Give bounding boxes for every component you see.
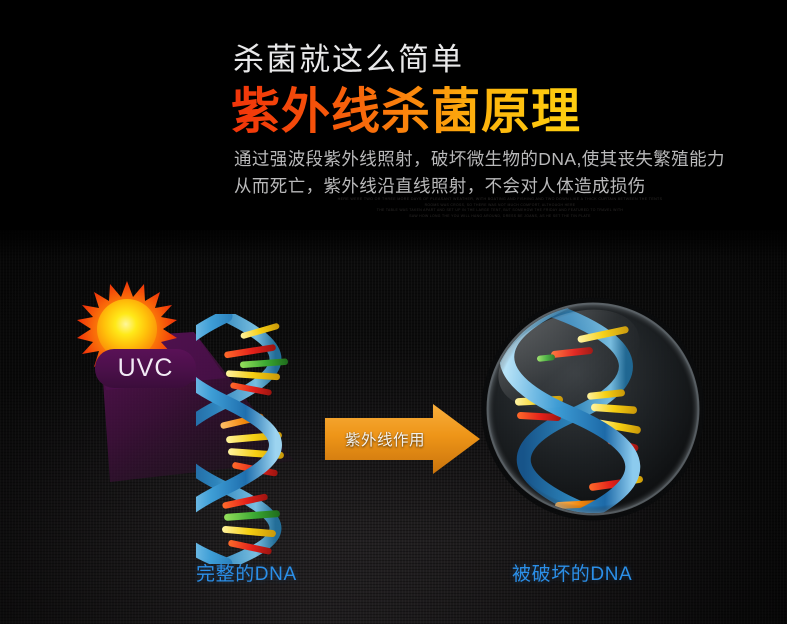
- subtitle-line-2: 从而死亡，紫外线沿直线照射，不会对人体造成损伤: [234, 173, 774, 200]
- dna-intact-illustration: [196, 314, 326, 564]
- subtitle-block: 通过强波段紫外线照射，破坏微生物的DNA,使其丧失繁殖能力 从而死亡，紫外线沿直…: [234, 146, 774, 200]
- caption-intact-dna: 完整的DNA: [196, 559, 297, 586]
- poster-stage: 杀菌就这么简单 紫外线杀菌原理 通过强波段紫外线照射，破坏微生物的DNA,使其丧…: [0, 0, 787, 624]
- caption-damaged-dna: 被破坏的DNA: [512, 559, 632, 586]
- subtitle-line-1: 通过强波段紫外线照射，破坏微生物的DNA,使其丧失繁殖能力: [234, 149, 725, 169]
- process-arrow-label: 紫外线作用: [330, 424, 440, 454]
- illustration-area: UVC: [0, 236, 787, 624]
- uvc-badge-label: UVC: [95, 349, 196, 388]
- page-title: 紫外线杀菌原理: [231, 84, 581, 140]
- decorative-microtext: HERE WERE TWO OR THREE MORE DAYS OF PLEA…: [240, 197, 760, 219]
- microtext-line-4: SAW HOW LONG THE YOU WILL HANG AROUND, D…: [240, 214, 760, 220]
- eyebrow-text: 杀菌就这么简单: [233, 40, 464, 80]
- damaged-dna-sphere: [477, 293, 709, 525]
